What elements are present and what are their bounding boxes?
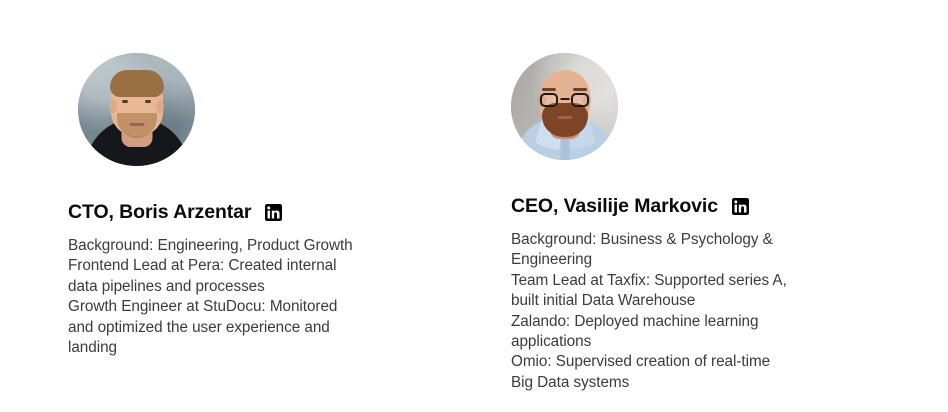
bio-line: Team Lead at Taxfix: Supported series A, <box>511 271 911 291</box>
bio-line: landing <box>68 338 468 358</box>
bio-line: built initial Data Warehouse <box>511 291 911 311</box>
linkedin-icon[interactable] <box>732 198 749 215</box>
team-member-card-ceo: CEO, Vasilije Markovic Background: Busin… <box>511 53 911 393</box>
bio-line: applications <box>511 332 911 352</box>
avatar <box>511 53 618 160</box>
member-bio: Background: Business & Psychology & Engi… <box>511 230 911 393</box>
member-name-row: CTO, Boris Arzentar <box>68 200 468 224</box>
team-member-card-cto: CTO, Boris Arzentar Background: Engineer… <box>68 53 468 358</box>
bio-line: Big Data systems <box>511 373 911 393</box>
avatar-hair-shape <box>110 70 164 97</box>
member-name-row: CEO, Vasilije Markovic <box>511 194 911 218</box>
linkedin-icon[interactable] <box>265 204 282 221</box>
avatar-mouth-shape <box>129 123 144 126</box>
avatar-eye-left-shape <box>122 100 128 103</box>
avatar-ear-right-shape <box>156 100 164 113</box>
bio-line: data pipelines and processes <box>68 277 468 297</box>
team-members-grid: CTO, Boris Arzentar Background: Engineer… <box>0 0 948 412</box>
avatar-glasses-bridge-shape <box>560 98 569 100</box>
avatar-brow-right-shape <box>573 88 587 91</box>
avatar-brow-left-shape <box>542 88 556 91</box>
avatar-mouth-shape <box>558 116 572 119</box>
avatar-eye-right-shape <box>145 100 151 103</box>
avatar <box>78 53 195 166</box>
avatar-ear-left-shape <box>109 100 117 113</box>
bio-line: Background: Business & Psychology & <box>511 230 911 250</box>
bio-line: Zalando: Deployed machine learning <box>511 312 911 332</box>
member-name: CTO, Boris Arzentar <box>68 200 251 224</box>
bio-line: Background: Engineering, Product Growth <box>68 236 468 256</box>
avatar-glasses-left-shape <box>540 93 558 107</box>
bio-line: and optimized the user experience and <box>68 318 468 338</box>
bio-line: Frontend Lead at Pera: Created internal <box>68 256 468 276</box>
bio-line: Omio: Supervised creation of real-time <box>511 352 911 372</box>
bio-line: Engineering <box>511 250 911 270</box>
member-bio: Background: Engineering, Product Growth … <box>68 236 468 358</box>
bio-line: Growth Engineer at StuDocu: Monitored <box>68 297 468 317</box>
avatar-glasses-right-shape <box>571 93 589 107</box>
member-name: CEO, Vasilije Markovic <box>511 194 718 218</box>
